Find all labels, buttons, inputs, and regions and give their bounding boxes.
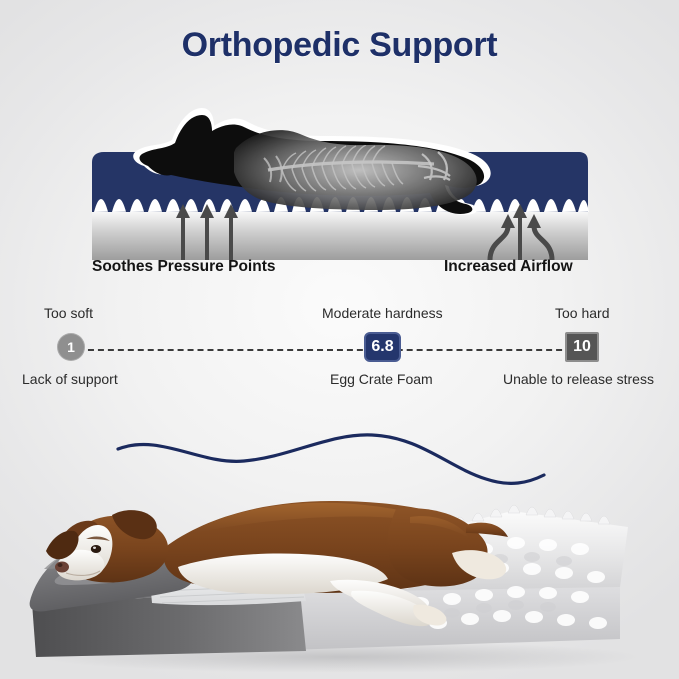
scale-marker-current: 6.8 bbox=[364, 332, 401, 362]
dog-nose bbox=[55, 562, 69, 573]
scale-label-too-soft: Too soft bbox=[44, 305, 93, 321]
scale-track-dashed-line bbox=[78, 349, 582, 351]
product-photo bbox=[0, 405, 679, 679]
scale-caption-egg-crate-foam: Egg Crate Foam bbox=[330, 371, 433, 387]
soothes-pressure-points-label: Soothes Pressure Points bbox=[92, 258, 275, 276]
scale-marker-min: 1 bbox=[57, 333, 85, 361]
page-title: Orthopedic Support bbox=[0, 26, 679, 65]
gray-base-foam-layer bbox=[92, 208, 588, 260]
scale-caption-lack-of-support: Lack of support bbox=[22, 371, 118, 387]
scale-label-moderate-hardness: Moderate hardness bbox=[322, 305, 443, 321]
dog-eye bbox=[91, 545, 101, 553]
navy-body-contour-curve bbox=[118, 435, 544, 483]
scale-marker-max: 10 bbox=[565, 332, 599, 362]
scale-label-too-hard: Too hard bbox=[555, 305, 609, 321]
infographic-page: Orthopedic Support bbox=[0, 0, 679, 679]
increased-airflow-label: Increased Airflow bbox=[444, 258, 573, 276]
scale-caption-unable-to-release-stress: Unable to release stress bbox=[503, 371, 654, 387]
